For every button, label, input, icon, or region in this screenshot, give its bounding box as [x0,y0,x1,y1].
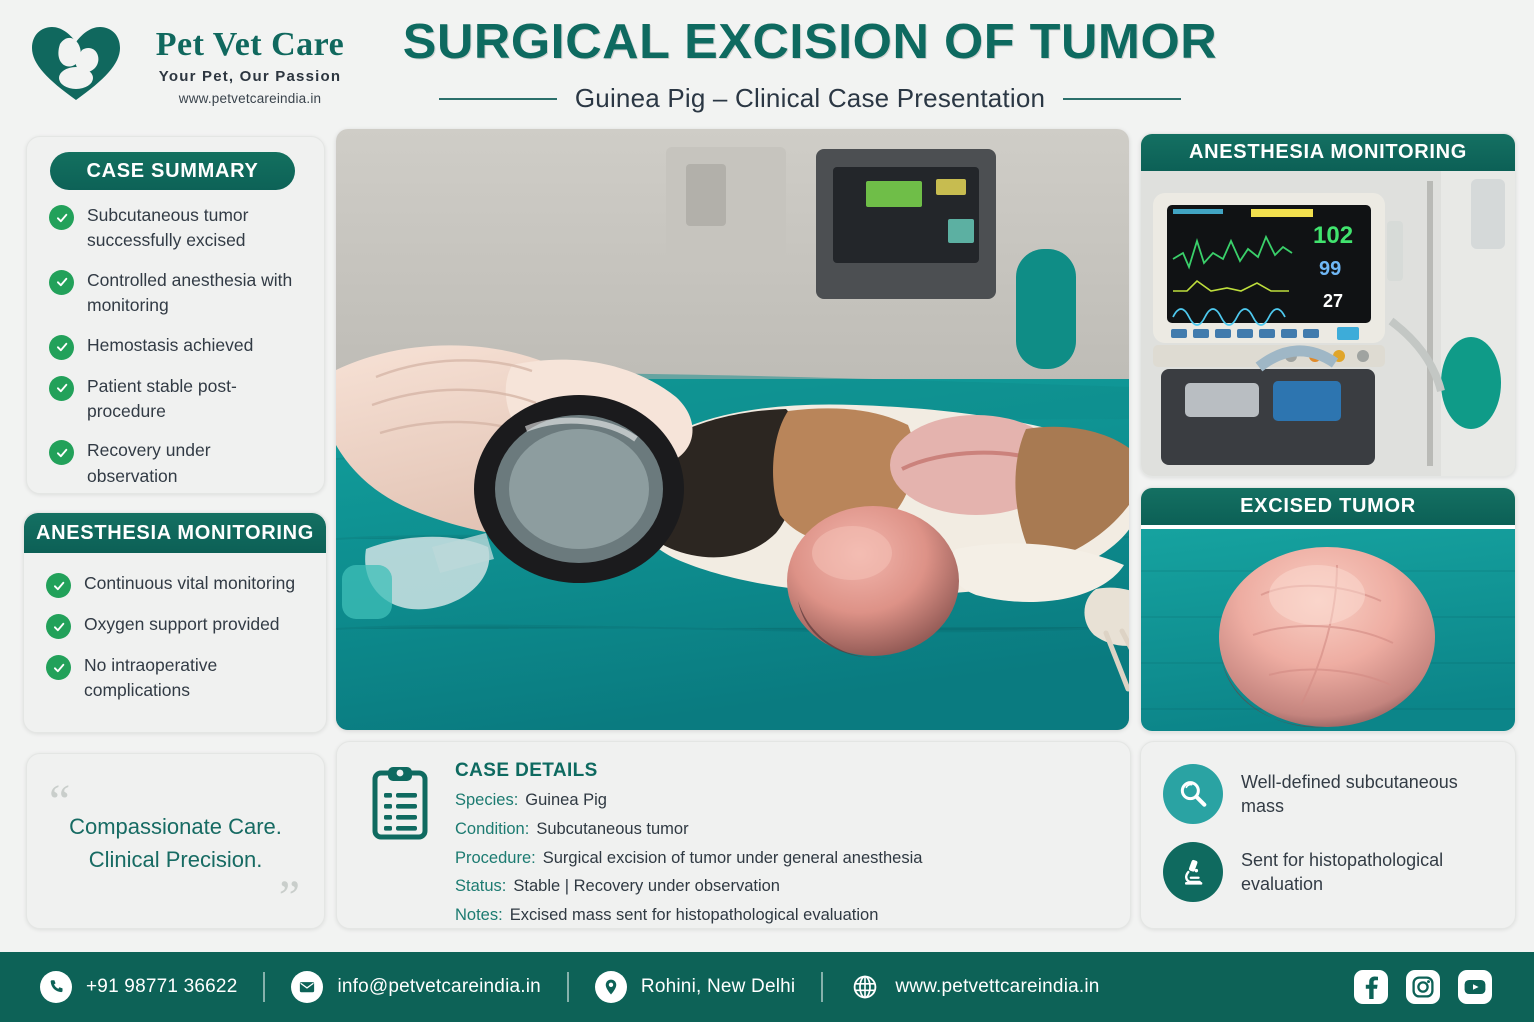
footer-divider [263,972,265,1002]
svg-text:99: 99 [1319,258,1341,280]
case-details-value: Excised mass sent for histopathological … [510,906,879,926]
findings-list: Well-defined subcutaneous massSent for h… [1163,764,1499,920]
case-summary-item: Recovery under observation [49,438,304,489]
anesthesia-monitoring-list: Continuous vital monitoringOxygen suppor… [24,571,326,718]
case-summary-item: Subcutaneous tumor successfully excised [49,203,304,254]
youtube-icon[interactable] [1458,970,1492,1004]
case-details-body: CASE DETAILS Species:Guinea PigCondition… [455,760,1116,935]
anesthesia-monitoring-item-label: Continuous vital monitoring [84,571,295,596]
infographic-root: Pet Vet Care Your Pet, Our Passion www.p… [0,0,1534,1022]
case-summary-item: Controlled anesthesia with monitoring [49,268,304,319]
globe-icon [849,971,881,1003]
finding-item: Well-defined subcutaneous mass [1163,764,1499,824]
case-summary-item-label: Subcutaneous tumor successfully excised [87,203,304,254]
case-summary-list: Subcutaneous tumor successfully excisedC… [27,203,324,503]
case-details-row: Notes:Excised mass sent for histopatholo… [455,906,1116,926]
subtitle-row: Guinea Pig – Clinical Case Presentation [390,83,1230,114]
findings-card: Well-defined subcutaneous massSent for h… [1140,741,1516,929]
excised-tumor-photo [1141,525,1515,731]
footer-contact-label: +91 98771 36622 [86,976,237,998]
hero-surgery-photo [336,129,1129,730]
anesthesia-photo-heading: ANESTHESIA MONITORING [1141,134,1515,171]
case-details-row: Species:Guinea Pig [455,791,1116,811]
subtitle-rule-left [439,98,557,100]
phone-icon [40,971,72,1003]
check-circle-icon [49,376,74,401]
anesthesia-machine-photo: 102 99 27 [1141,171,1515,476]
case-details-row: Procedure:Surgical excision of tumor und… [455,849,1116,869]
check-circle-icon [46,614,71,639]
check-circle-icon [49,440,74,465]
page-title: SURGICAL EXCISION OF TUMOR [377,18,1242,67]
case-details-value: Surgical excision of tumor under general… [543,849,923,869]
case-details-card: CASE DETAILS Species:Guinea PigCondition… [336,741,1131,929]
finding-item: Sent for histopathological evaluation [1163,842,1499,902]
case-summary-item-label: Controlled anesthesia with monitoring [87,268,304,319]
case-summary-item: Patient stable post-procedure [49,374,304,425]
case-summary-item: Hemostasis achieved [49,333,304,360]
heart-dog-cat-logo-icon [30,24,122,102]
case-summary-heading: CASE SUMMARY [50,152,295,190]
subtitle-rule-right [1063,98,1181,100]
footer-contact-location-pin[interactable]: Rohini, New Delhi [595,971,795,1003]
case-details-row: Condition:Subcutaneous tumor [455,820,1116,840]
case-details-rows: Species:Guinea PigCondition:Subcutaneous… [455,791,1116,926]
microscope-icon [1163,842,1223,902]
mail-icon [291,971,323,1003]
brand-website: www.petvetcareindia.in [130,91,370,106]
brand-logo: Pet Vet Care Your Pet, Our Passion www.p… [25,14,345,114]
anesthesia-monitoring-card: ANESTHESIA MONITORING Continuous vital m… [23,512,327,733]
case-details-value: Stable | Recovery under observation [513,877,780,897]
quote-text: Compassionate Care. Clinical Precision. [27,810,324,876]
check-circle-icon [49,270,74,295]
case-details-label: Condition: [455,820,529,840]
footer-socials [1354,952,1492,1022]
check-circle-icon [46,655,71,680]
anesthesia-monitoring-item-label: Oxygen support provided [84,612,280,637]
footer-contact-label: www.petvettcareindia.in [895,976,1099,998]
footer-divider [821,972,823,1002]
finding-label: Sent for histopathological evaluation [1241,848,1499,897]
anesthesia-monitoring-item: No intraoperative complications [46,653,308,704]
quote-close-icon: ” [279,874,300,922]
page-header: Pet Vet Care Your Pet, Our Passion www.p… [0,0,1534,122]
clipboard-icon [371,765,429,841]
facebook-icon[interactable] [1354,970,1388,1004]
case-details-value: Guinea Pig [525,791,607,811]
case-details-label: Species: [455,791,518,811]
anesthesia-monitoring-item-label: No intraoperative complications [84,653,308,704]
footer-divider [567,972,569,1002]
case-details-row: Status:Stable | Recovery under observati… [455,877,1116,897]
anesthesia-monitoring-heading: ANESTHESIA MONITORING [24,513,326,553]
brand-name: Pet Vet Care [130,28,370,62]
magnifier-icon [1163,764,1223,824]
check-circle-icon [49,335,74,360]
case-summary-item-label: Recovery under observation [87,438,304,489]
footer-contact-phone[interactable]: +91 98771 36622 [40,971,237,1003]
anesthesia-photo-card: ANESTHESIA MONITORING [1140,133,1516,477]
excised-tumor-card: EXCISED TUMOR [1140,487,1516,732]
case-details-value: Subcutaneous tumor [536,820,688,840]
case-summary-item-label: Hemostasis achieved [87,333,253,358]
case-details-title: CASE DETAILS [455,760,1116,782]
footer-contact-label: info@petvetcareindia.in [337,976,540,998]
check-circle-icon [49,205,74,230]
finding-label: Well-defined subcutaneous mass [1241,770,1499,819]
excised-tumor-heading: EXCISED TUMOR [1141,488,1515,525]
case-summary-card: CASE SUMMARY Subcutaneous tumor successf… [26,136,325,494]
footer-contact-label: Rohini, New Delhi [641,976,795,998]
instagram-icon[interactable] [1406,970,1440,1004]
page-subtitle: Guinea Pig – Clinical Case Presentation [575,83,1045,114]
anesthesia-monitoring-item: Oxygen support provided [46,612,308,639]
anesthesia-monitoring-item: Continuous vital monitoring [46,571,308,598]
footer-contacts: +91 98771 36622info@petvetcareindia.inRo… [40,952,1100,1022]
check-circle-icon [46,573,71,598]
footer-contact-mail[interactable]: info@petvetcareindia.in [291,971,540,1003]
svg-text:102: 102 [1313,222,1353,249]
case-summary-item-label: Patient stable post-procedure [87,374,304,425]
case-details-label: Procedure: [455,849,536,869]
svg-text:27: 27 [1323,291,1343,311]
quote-line-1: Compassionate Care. [27,810,324,843]
case-details-label: Notes: [455,906,503,926]
brand-tagline: Your Pet, Our Passion [130,68,370,85]
quote-card: “ Compassionate Care. Clinical Precision… [26,753,325,929]
case-details-label: Status: [455,877,506,897]
title-block: SURGICAL EXCISION OF TUMOR Guinea Pig – … [390,18,1230,114]
footer-bar: +91 98771 36622info@petvetcareindia.inRo… [0,952,1534,1022]
location-pin-icon [595,971,627,1003]
footer-contact-globe[interactable]: www.petvettcareindia.in [849,971,1099,1003]
